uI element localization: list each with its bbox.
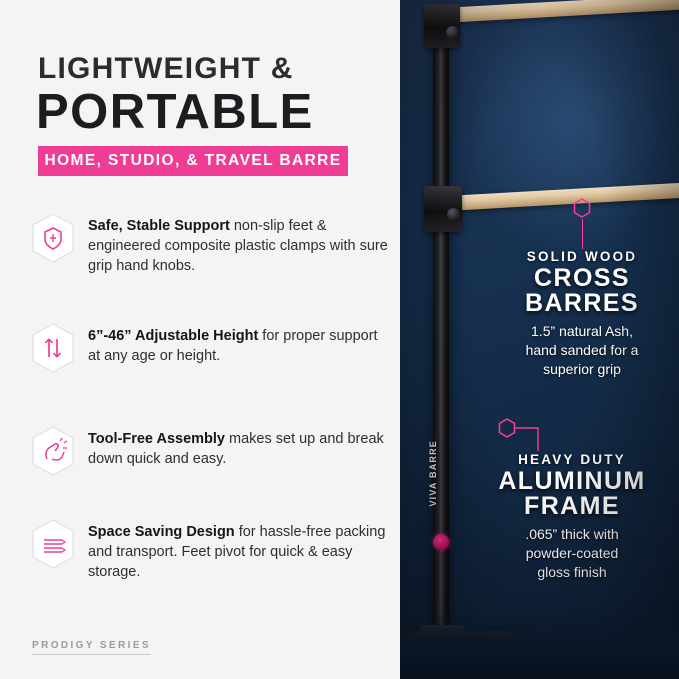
feature-text: 6”-46” Adjustable Height for proper supp… <box>88 322 390 366</box>
feature-title: 6”-46” Adjustable Height <box>88 328 258 344</box>
product-photo-panel: VIVA BARRE SOLID WOOD CROSS BARRES 1.5” … <box>400 0 679 679</box>
photo-vignette <box>400 0 679 679</box>
marketing-infographic: VIVA BARRE SOLID WOOD CROSS BARRES 1.5” … <box>0 0 679 679</box>
photo-floor-gradient <box>400 609 679 679</box>
feature-title: Safe, Stable Support <box>88 218 230 234</box>
feature-title: Space Saving Design <box>88 524 235 540</box>
stacked-layers-icon <box>30 518 76 570</box>
feature-item-tool-free-assembly: Tool-Free Assembly makes set up and brea… <box>30 425 390 477</box>
feature-item-adjustable-height: 6”-46” Adjustable Height for proper supp… <box>30 322 390 374</box>
up-down-arrows-icon <box>30 322 76 374</box>
hands-icon <box>30 425 76 477</box>
headline-line-1: LIGHTWEIGHT & <box>38 52 294 86</box>
feature-text: Safe, Stable Support non-slip feet & eng… <box>88 212 390 276</box>
shield-icon <box>30 212 76 264</box>
feature-title: Tool-Free Assembly <box>88 431 225 447</box>
left-content-panel: LIGHTWEIGHT & PORTABLE HOME, STUDIO, & T… <box>0 0 400 679</box>
series-label: PRODIGY SERIES <box>32 640 151 655</box>
subtitle-banner: HOME, STUDIO, & TRAVEL BARRE <box>38 146 348 176</box>
feature-text: Tool-Free Assembly makes set up and brea… <box>88 425 390 469</box>
feature-item-space-saving-design: Space Saving Design for hassle-free pack… <box>30 518 390 582</box>
feature-text: Space Saving Design for hassle-free pack… <box>88 518 390 582</box>
headline-line-2: PORTABLE <box>36 84 314 140</box>
feature-item-safe-stable-support: Safe, Stable Support non-slip feet & eng… <box>30 212 390 276</box>
subtitle-banner-label: HOME, STUDIO, & TRAVEL BARRE <box>45 152 342 170</box>
